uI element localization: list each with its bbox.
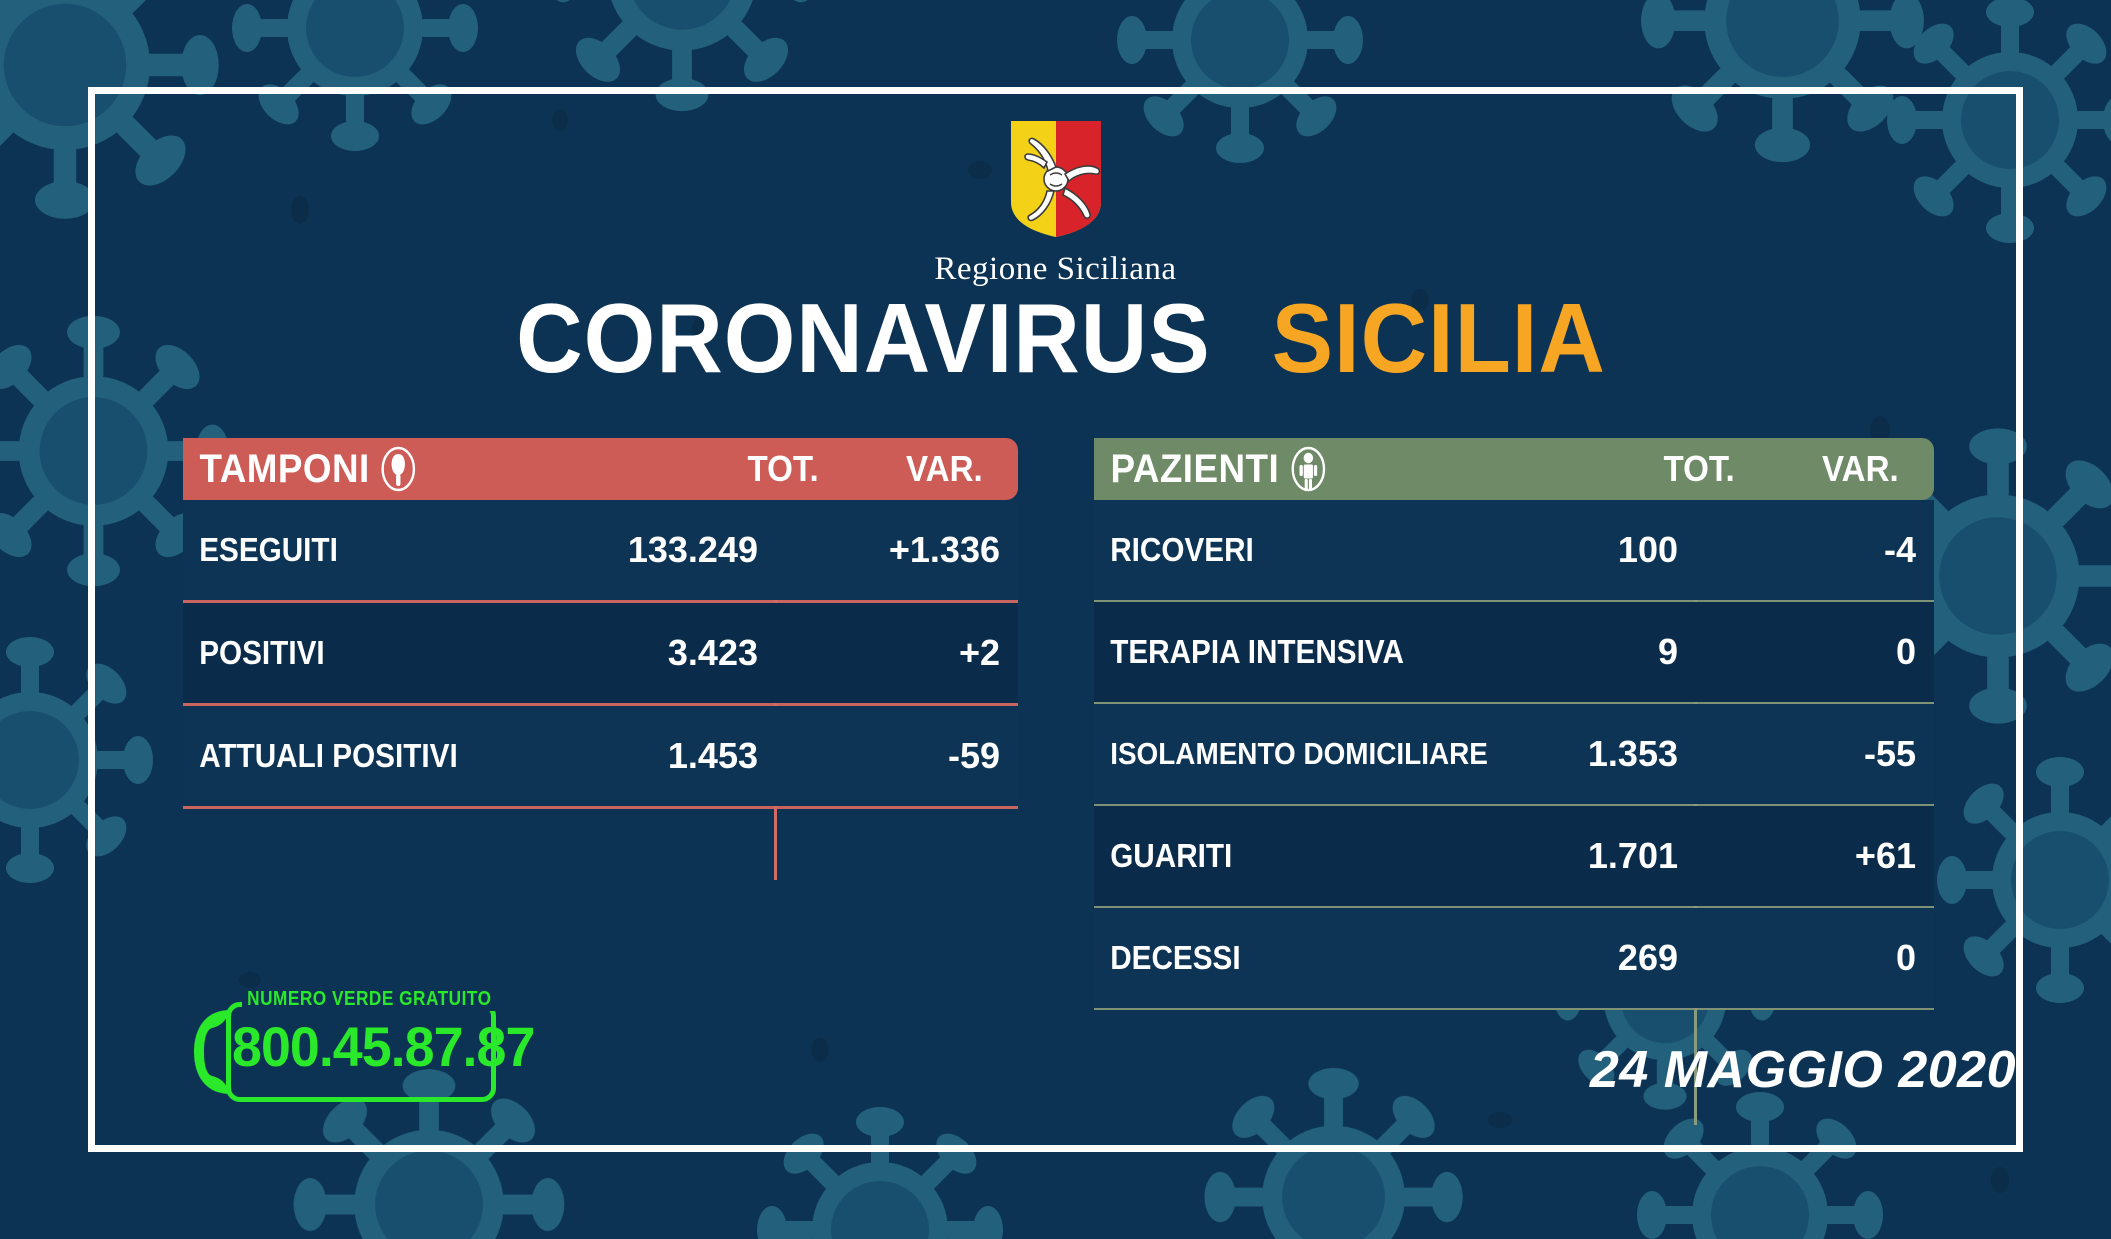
table-pazienti: PAZIENTI TOT. VAR. <box>1094 438 1934 1010</box>
row-divider <box>1094 1008 1934 1010</box>
infographic-canvas: Regione Siciliana CORONAVIRUS SICILIA TA… <box>0 0 2111 1239</box>
row-label: GUARITI <box>1094 837 1461 875</box>
row-variation: 0 <box>1694 631 1934 673</box>
table-tamponi-col-var: VAR. <box>877 448 1012 490</box>
row-total: 1.353 <box>1502 733 1694 775</box>
table-tamponi-body: ESEGUITI 133.249 +1.336 POSITIVI 3.423 +… <box>183 500 1018 809</box>
table-row: RICOVERI 100 -4 <box>1094 500 1934 600</box>
table-pazienti-body: RICOVERI 100 -4 TERAPIA INTENSIVA 9 0 IS… <box>1094 500 1934 1010</box>
row-total: 1.453 <box>583 735 774 777</box>
table-pazienti-header: PAZIENTI TOT. VAR. <box>1094 438 1934 500</box>
tamponi-title-text: TAMPONI <box>200 447 370 492</box>
page-title: CORONAVIRUS SICILIA <box>0 289 2111 387</box>
table-tamponi: TAMPONI TOT. VAR. ESEGUITI 1 <box>183 438 1018 809</box>
row-variation: -59 <box>774 735 1018 777</box>
table-tamponi-title: TAMPONI <box>183 445 654 493</box>
table-row: DECESSI 269 0 <box>1094 908 1934 1008</box>
row-variation: -4 <box>1694 529 1934 571</box>
row-variation: +61 <box>1694 835 1934 877</box>
title-word-coronavirus: CORONAVIRUS <box>516 289 1210 387</box>
row-total: 1.701 <box>1502 835 1694 877</box>
row-label: DECESSI <box>1094 939 1461 977</box>
patient-person-icon <box>1288 445 1328 493</box>
table-row: POSITIVI 3.423 +2 <box>183 603 1018 703</box>
row-label: ISOLAMENTO DOMICILIARE <box>1094 736 1461 772</box>
title-word-sicilia: SICILIA <box>1272 289 1606 387</box>
phone-handset-icon <box>186 1004 244 1100</box>
row-total: 3.423 <box>583 632 774 674</box>
table-row: ESEGUITI 133.249 +1.336 <box>183 500 1018 600</box>
row-total: 269 <box>1502 937 1694 979</box>
row-label: RICOVERI <box>1094 531 1461 569</box>
row-label: ESEGUITI <box>183 531 543 569</box>
numero-verde-block[interactable]: NUMERO VERDE GRATUITO 800.45.87.87 <box>186 988 496 1108</box>
row-total: 133.249 <box>583 529 774 571</box>
row-total: 9 <box>1502 631 1694 673</box>
table-row: ISOLAMENTO DOMICILIARE 1.353 -55 <box>1094 704 1934 804</box>
row-variation: +2 <box>774 632 1018 674</box>
row-label: POSITIVI <box>183 634 543 672</box>
brand-header: Regione Siciliana <box>0 118 2111 288</box>
row-variation: +1.336 <box>774 529 1018 571</box>
table-row: TERAPIA INTENSIVA 9 0 <box>1094 602 1934 702</box>
report-date: 24 MAGGIO 2020 <box>1590 1040 2016 1100</box>
table-row: GUARITI 1.701 +61 <box>1094 806 1934 906</box>
table-row: ATTUALI POSITIVI 1.453 -59 <box>183 706 1018 806</box>
sicily-trinacria-crest-icon <box>1007 118 1105 240</box>
row-variation: 0 <box>1694 937 1934 979</box>
row-label: ATTUALI POSITIVI <box>183 737 543 775</box>
numero-verde-label: NUMERO VERDE GRATUITO <box>242 988 497 1011</box>
table-tamponi-header: TAMPONI TOT. VAR. <box>183 438 1018 500</box>
table-tamponi-col-tot: TOT. <box>702 448 864 490</box>
row-variation: -55 <box>1694 733 1934 775</box>
table-pazienti-col-tot: TOT. <box>1618 448 1780 490</box>
row-label: TERAPIA INTENSIVA <box>1094 633 1461 671</box>
swab-icon <box>379 445 418 493</box>
pazienti-title-text: PAZIENTI <box>1111 447 1280 492</box>
numero-verde-number[interactable]: 800.45.87.87 <box>232 1014 534 1079</box>
table-pazienti-col-var: VAR. <box>1793 448 1928 490</box>
row-divider <box>183 806 1018 809</box>
table-pazienti-title: PAZIENTI <box>1094 445 1570 493</box>
row-total: 100 <box>1502 529 1694 571</box>
